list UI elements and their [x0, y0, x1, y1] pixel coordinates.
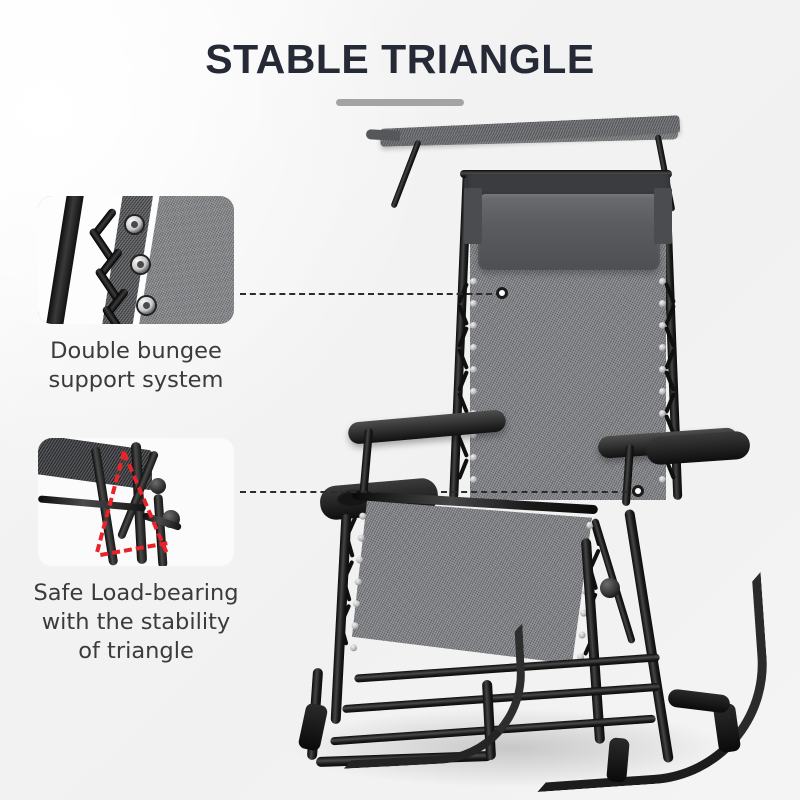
callout-image-double-bungee: [38, 196, 234, 324]
headrest-pillow: [478, 194, 660, 270]
callout-double-bungee: Double bungee support system: [38, 196, 242, 395]
caption-line-2: support system: [30, 366, 242, 395]
callout-safe-load-bearing: Safe Load-bearing with the stability of …: [38, 438, 242, 666]
grommet: [138, 297, 155, 314]
backrest-bungee-lacing-left: [458, 274, 478, 500]
grommet: [132, 256, 149, 273]
callout-caption-safe-load-bearing: Safe Load-bearing with the stability of …: [30, 579, 242, 666]
canopy-tip-left: [366, 129, 400, 141]
title-divider-rule: [336, 99, 464, 106]
grommet: [126, 216, 143, 233]
pillow-strap-left: [464, 188, 482, 244]
promo-image-canvas: STABLE TRIANGLE: [0, 0, 800, 800]
leader-marker-double-bungee: [496, 287, 508, 299]
caption-line-3: of triangle: [30, 637, 242, 666]
page-title: STABLE TRIANGLE: [0, 36, 800, 83]
cup-holder-tray-right: [645, 430, 751, 465]
pillow-strap-right: [654, 188, 672, 244]
rocker-rail-right: [523, 572, 775, 792]
leader-marker-safe-load-bearing: [632, 485, 644, 497]
caption-line-2: with the stability: [30, 608, 242, 637]
backrest-bungee-lacing-right: [658, 274, 678, 500]
product-photo: [280, 108, 780, 768]
leader-line-double-bungee: [240, 293, 502, 295]
pivot-hub-upper: [150, 478, 166, 494]
canopy-arm-left: [390, 139, 421, 208]
callout-image-safe-load-bearing: [38, 438, 234, 566]
foot-cap-rear-left: [606, 737, 630, 783]
callout-caption-double-bungee: Double bungee support system: [30, 337, 242, 395]
caption-line-1: Double bungee: [30, 337, 242, 366]
leader-line-safe-load-bearing: [240, 491, 638, 493]
caption-line-1: Safe Load-bearing: [30, 579, 242, 608]
